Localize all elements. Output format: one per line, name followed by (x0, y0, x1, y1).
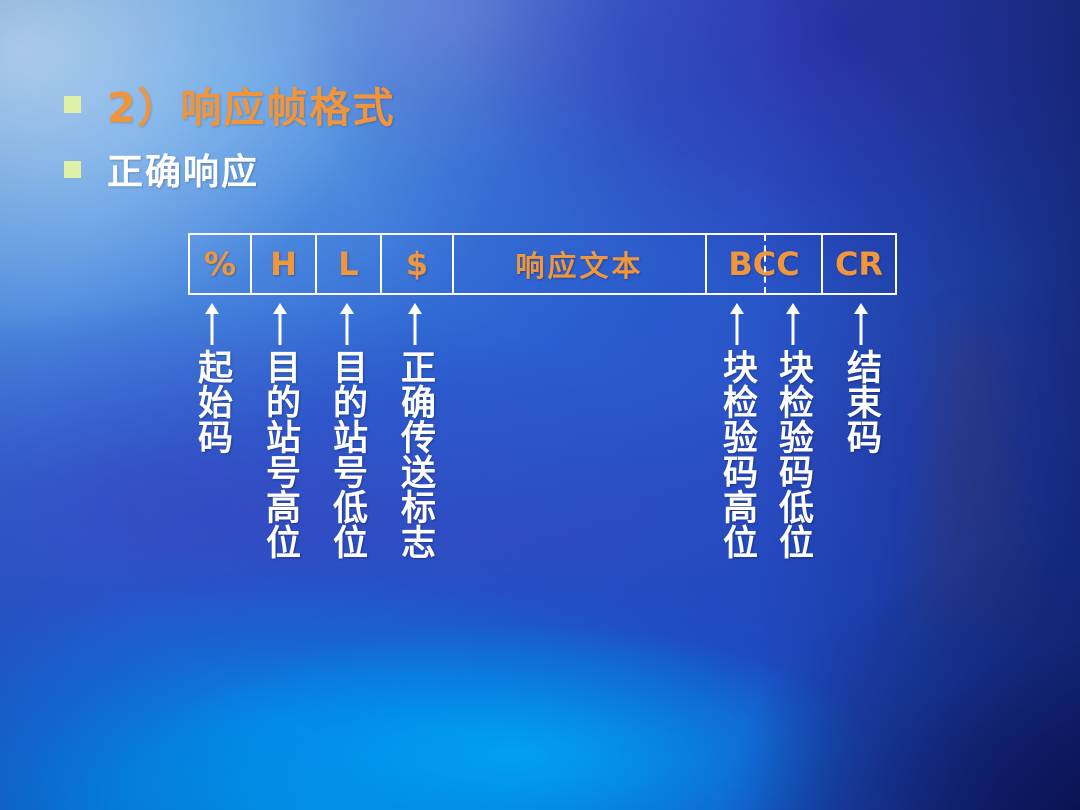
callout-label: 目的站号低位 (324, 349, 370, 559)
square-bullet-icon (64, 161, 81, 178)
tower-body-shade (930, 330, 1016, 630)
frame-field-callout: 目的站号低位 (327, 303, 367, 559)
frame-cell: CR (823, 235, 895, 293)
frame-field-callout: 正确传送标志 (395, 303, 435, 559)
arrow-up-icon (395, 303, 435, 345)
cell-dashed-divider (764, 235, 766, 293)
heading-subtitle-row: 正确响应 (64, 143, 259, 195)
frame-cell: BCC (707, 235, 823, 293)
callout-label: 正确传送标志 (392, 349, 438, 559)
page-subtitle: 正确响应 (107, 143, 259, 195)
frame-cell-label: H (270, 245, 297, 283)
arrow-up-icon (327, 303, 367, 345)
tower-silhouette-icon (905, 300, 1055, 630)
arrow-up-icon (717, 303, 757, 345)
square-bullet-icon (64, 96, 81, 113)
heading-title-row: 2）响应帧格式 (64, 74, 396, 134)
page-title: 2）响应帧格式 (107, 74, 396, 134)
frame-format-table: %HL$响应文本BCCCR (188, 233, 897, 295)
frame-cell: 响应文本 (454, 235, 707, 293)
callout-label: 目的站号高位 (257, 349, 303, 559)
callout-label: 起始码 (189, 349, 235, 454)
frame-field-callout: 块检验码低位 (773, 303, 813, 559)
slide-canvas: 2）响应帧格式 正确响应 %HL$响应文本BCCCR 起始码目的站号高位目的站号… (0, 0, 1080, 810)
frame-cell: H (252, 235, 317, 293)
frame-field-callout: 块检验码高位 (717, 303, 757, 559)
arrow-up-icon (192, 303, 232, 345)
arrow-up-icon (260, 303, 300, 345)
frame-cell-label: % (204, 245, 236, 283)
frame-cell: % (190, 235, 252, 293)
callout-label: 块检验码高位 (714, 349, 760, 559)
frame-cell-label: $ (406, 245, 428, 283)
frame-cell-label: CR (835, 245, 883, 283)
frame-cell: $ (382, 235, 454, 293)
frame-cell: L (317, 235, 382, 293)
frame-cell-label: L (338, 245, 358, 283)
arrow-up-icon (773, 303, 813, 345)
arrow-up-icon (841, 303, 881, 345)
callout-label: 块检验码低位 (770, 349, 816, 559)
frame-field-callout: 起始码 (192, 303, 232, 454)
frame-field-callout: 目的站号高位 (260, 303, 300, 559)
frame-cell-label: 响应文本 (515, 243, 643, 285)
frame-field-callout: 结束码 (841, 303, 881, 454)
callout-label: 结束码 (838, 349, 884, 454)
